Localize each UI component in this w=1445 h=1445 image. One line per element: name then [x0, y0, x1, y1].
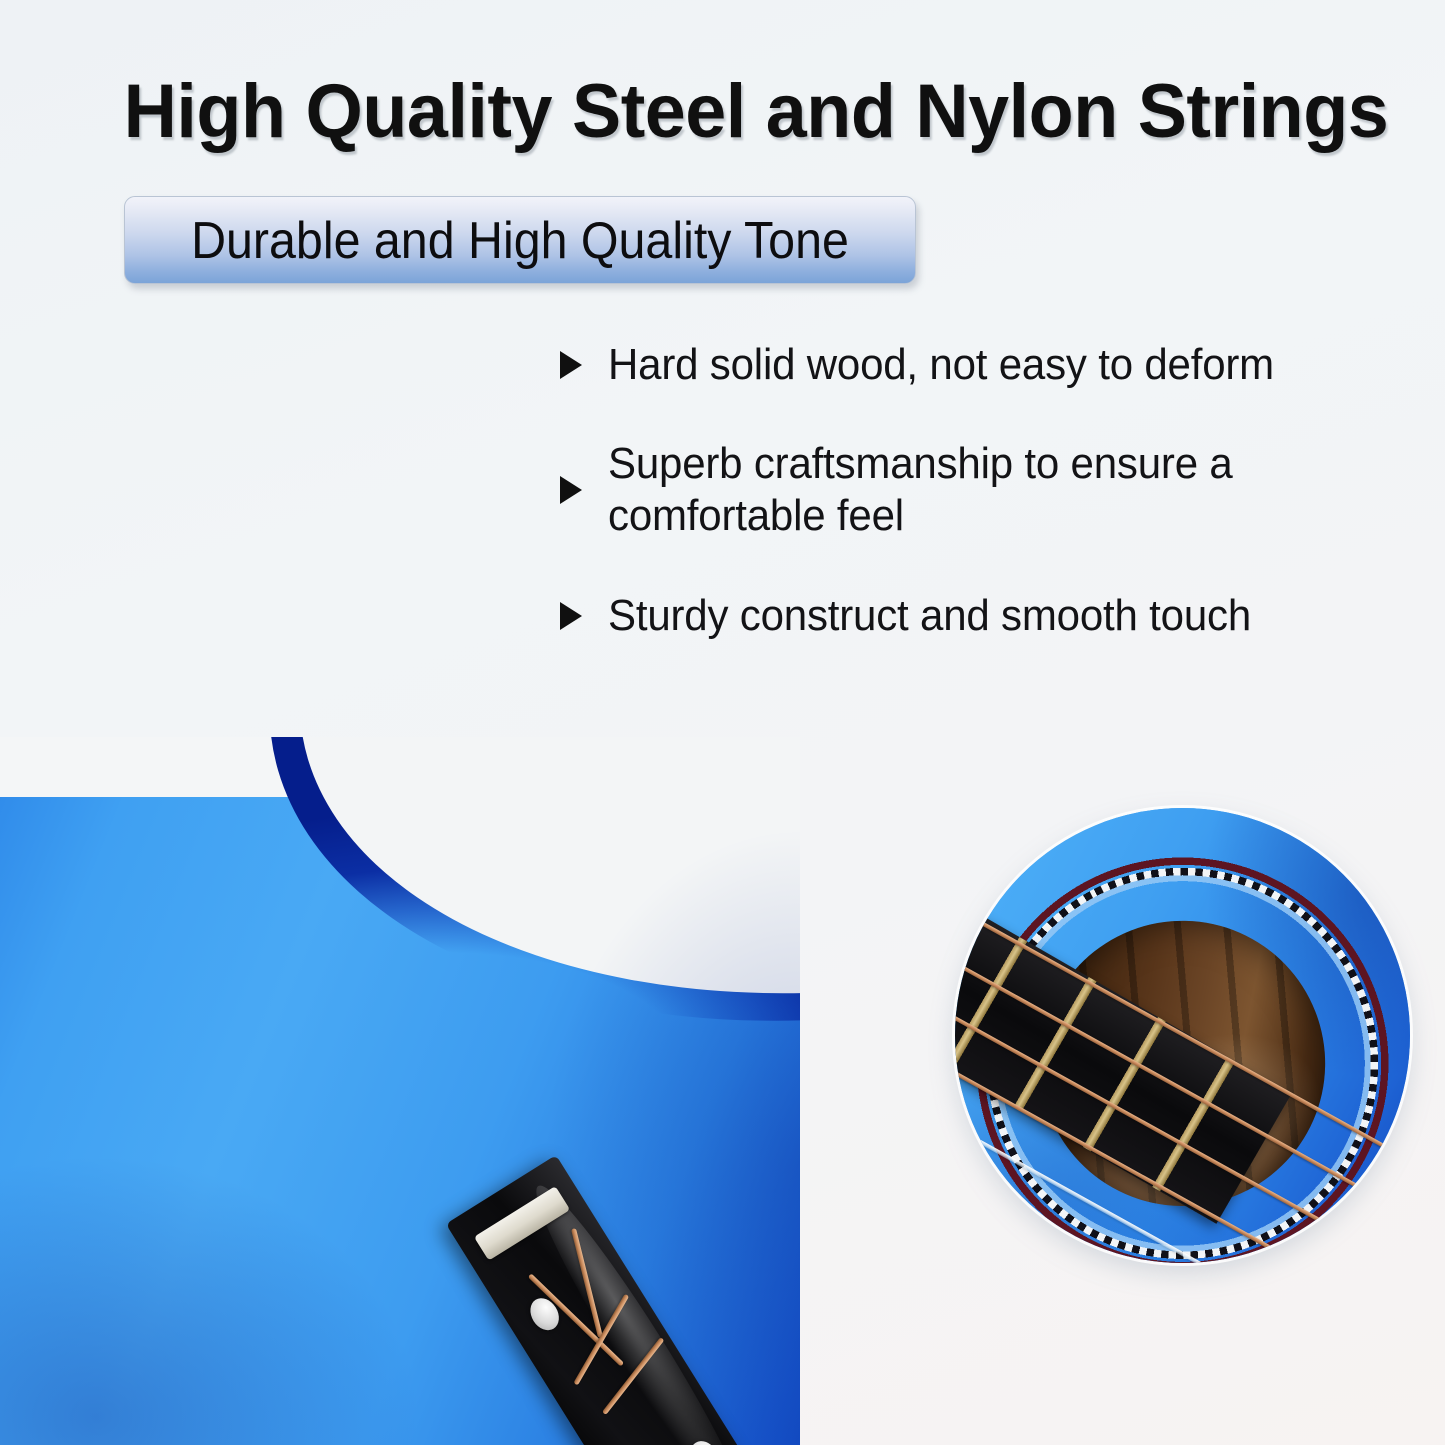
- guitar-body-photo: [0, 737, 800, 1445]
- list-item-label: Superb craftsmanship to ensure a comfort…: [608, 438, 1388, 543]
- list-item: Hard solid wood, not easy to deform: [560, 336, 1425, 394]
- guitar-rosette-closeup-photo: [955, 808, 1410, 1263]
- product-feature-image: High Quality Steel and Nylon Strings Dur…: [0, 0, 1445, 1445]
- list-item: Sturdy construct and smooth touch: [560, 587, 1425, 645]
- subtitle-banner: Durable and High Quality Tone: [124, 196, 916, 284]
- triangle-right-icon: [560, 476, 590, 504]
- guitar-upper-bout-cutout-fill: [600, 737, 800, 867]
- triangle-right-icon: [560, 602, 590, 630]
- triangle-right-icon: [560, 351, 590, 379]
- list-item-label: Sturdy construct and smooth touch: [608, 590, 1388, 642]
- page-title: High Quality Steel and Nylon Strings: [116, 62, 1396, 162]
- list-item: Superb craftsmanship to ensure a comfort…: [560, 438, 1425, 543]
- subtitle-banner-label: Durable and High Quality Tone: [153, 197, 888, 285]
- feature-list: Hard solid wood, not easy to deform Supe…: [560, 336, 1425, 689]
- list-item-label: Hard solid wood, not easy to deform: [608, 339, 1388, 391]
- bridge-pin: [525, 1293, 565, 1336]
